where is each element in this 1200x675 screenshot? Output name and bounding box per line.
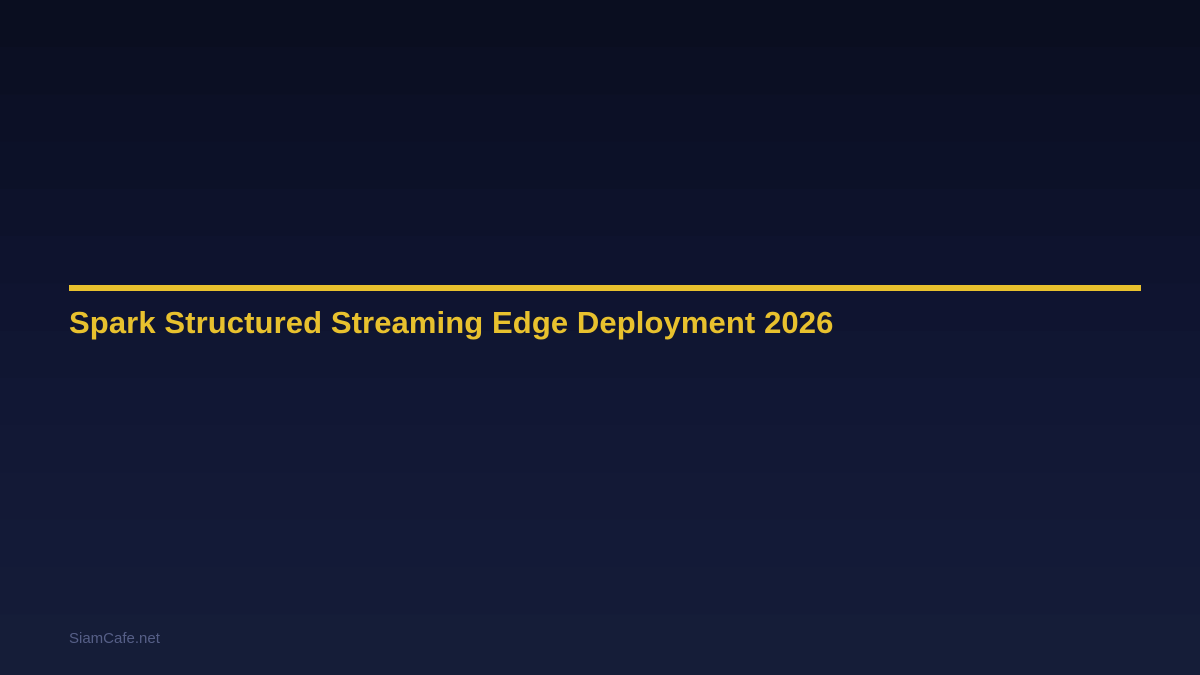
title-slide: Spark Structured Streaming Edge Deployme… [0, 0, 1200, 675]
title-accent-rule [69, 285, 1141, 291]
page-title: Spark Structured Streaming Edge Deployme… [69, 303, 833, 343]
footer-watermark: SiamCafe.net [69, 629, 160, 649]
